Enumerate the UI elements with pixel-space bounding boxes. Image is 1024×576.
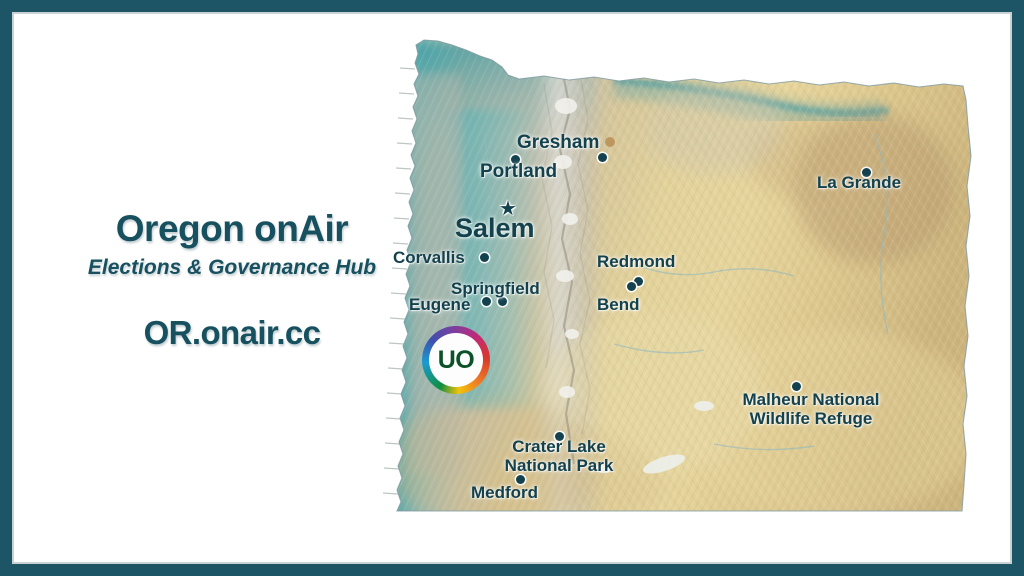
map-label-portland: Portland	[480, 161, 557, 182]
map-label-line: National Park	[484, 456, 634, 475]
brand-title: Oregon onAir	[60, 210, 404, 249]
map-label-salem: Salem	[455, 213, 535, 243]
brand-url[interactable]: OR.onair.cc	[60, 314, 404, 352]
map-label-line: Crater Lake	[484, 437, 634, 456]
map-label-eugene: Eugene	[409, 295, 470, 314]
uo-logo-text: UO	[438, 346, 475, 375]
map-dot-gresham[interactable]	[598, 153, 607, 162]
map-dot-corvallis[interactable]	[480, 253, 489, 262]
map-label-line: Wildlife Refuge	[721, 409, 901, 428]
uo-logo-inner: UO	[429, 333, 483, 387]
map-label-redmond: Redmond	[597, 252, 675, 271]
map-dot-eugene[interactable]	[482, 297, 491, 306]
branding-block: Oregon onAir Elections & Governance Hub …	[60, 210, 404, 352]
map-label-la-grande: La Grande	[817, 173, 901, 192]
screenshot-root: Gresham Portland ★ Salem Corvallis Sprin…	[0, 0, 1024, 576]
map-label-medford: Medford	[471, 483, 538, 502]
uo-logo[interactable]: UO	[422, 326, 490, 394]
map-dot-springfield[interactable]	[498, 297, 507, 306]
map-label-crater-lake-national-park: Crater Lake National Park	[484, 437, 634, 475]
poster-canvas: Gresham Portland ★ Salem Corvallis Sprin…	[14, 14, 1010, 562]
map-label-bend: Bend	[597, 295, 640, 314]
brand-subtitle: Elections & Governance Hub	[60, 256, 404, 280]
map-label-malheur-national-wildlife-refuge: Malheur National Wildlife Refuge	[721, 390, 901, 428]
map-label-gresham: Gresham	[517, 132, 599, 153]
map-dot-bend[interactable]	[627, 282, 636, 291]
map-label-line: Malheur National	[721, 390, 901, 409]
